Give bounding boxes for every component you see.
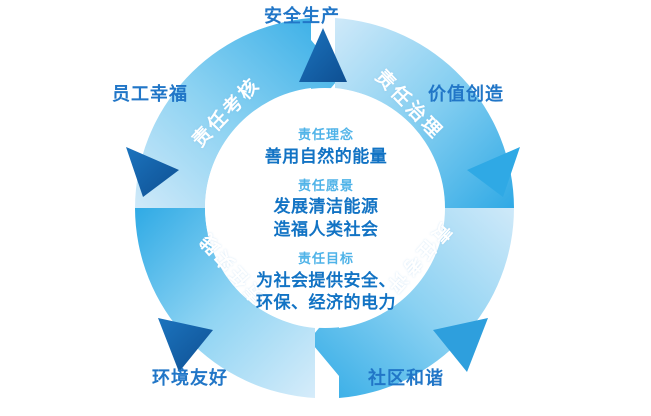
center-heading-vision: 责任愿景 — [231, 177, 421, 197]
center-body-vision-line-2: 造福人类社会 — [231, 219, 421, 241]
center-text-block: 责任理念 善用自然的能量 责任愿景 发展清洁能源 造福人类社会 责任目标 为社会… — [231, 126, 421, 315]
outer-label-lower-left: 环境友好 — [152, 370, 228, 388]
center-body-goal-line-2: 环保、经济的电力 — [231, 292, 421, 314]
outer-label-upper-right: 价值创造 — [428, 86, 504, 104]
outer-label-top: 安全生产 — [264, 8, 340, 26]
center-body-vision-line-1: 发展清洁能源 — [231, 196, 421, 218]
diagram-canvas: 安全生产 员工幸福 价值创造 环境友好 社区和谐 责任考核 责任治理 责任实践 … — [0, 0, 651, 416]
outer-label-lower-right: 社区和谐 — [368, 370, 444, 388]
center-body-goal-line-1: 为社会提供安全、 — [231, 270, 421, 292]
center-block-philosophy: 责任理念 善用自然的能量 — [231, 126, 421, 168]
center-heading-philosophy: 责任理念 — [231, 126, 421, 146]
outer-label-upper-left: 员工幸福 — [112, 86, 188, 104]
center-block-vision: 责任愿景 发展清洁能源 造福人类社会 — [231, 177, 421, 241]
center-heading-goal: 责任目标 — [231, 250, 421, 270]
center-body-philosophy-line-1: 善用自然的能量 — [231, 146, 421, 168]
center-block-goal: 责任目标 为社会提供安全、 环保、经济的电力 — [231, 250, 421, 314]
